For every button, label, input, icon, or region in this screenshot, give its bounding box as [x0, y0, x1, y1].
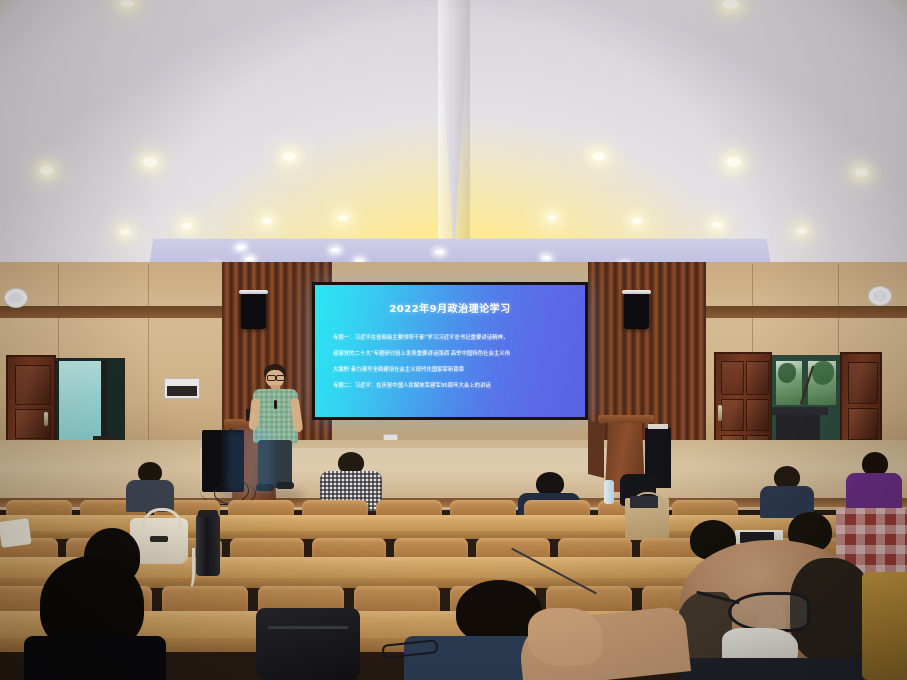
downlight	[855, 168, 868, 177]
soffit-downlight	[331, 248, 340, 252]
audience-member-foreground	[30, 556, 160, 680]
seat-back	[524, 500, 590, 516]
presenter-glasses	[267, 375, 276, 381]
black-bag-foreground	[256, 608, 360, 680]
black-water-bottle	[196, 514, 220, 576]
door-panel	[746, 361, 769, 395]
door-panel	[746, 399, 769, 431]
downlight	[262, 218, 272, 224]
slide-body: 专题一：习近平在省部级主要领导干部“学习习近平总书记重要讲话精神， 迎接党的二十…	[333, 330, 575, 394]
slide-line: 大旗帜 奋力谱写全面建设社会主义现代化国家崭新篇章	[333, 362, 575, 378]
wall-trim-left	[0, 306, 228, 318]
audience-member	[846, 452, 902, 510]
presenter-microphone	[274, 400, 277, 409]
seat-back	[228, 500, 294, 516]
water-bottle	[604, 480, 614, 504]
seat-back	[558, 538, 632, 558]
downlight	[547, 215, 557, 221]
led-screen[interactable]: 2022年9月政治理论学习 专题一：习近平在省部级主要领导干部“学习习近平总书记…	[315, 285, 585, 417]
torso	[126, 480, 174, 512]
av-equipment-panel[interactable]	[164, 378, 200, 399]
slide-line: 专题一：习近平在省部级主要领导干部“学习习近平总书记重要讲话精神，	[333, 330, 575, 346]
door-panel	[721, 399, 744, 431]
seat-back	[672, 500, 738, 516]
door-panel	[848, 362, 878, 404]
downlight	[182, 223, 192, 229]
audience-member	[126, 462, 174, 506]
ceiling-center-beam	[438, 0, 470, 255]
soffit-downlight	[245, 257, 254, 261]
ceiling-speaker-right	[868, 286, 892, 306]
slide-line: 迎接党的二十大”专题研讨班上发表重要讲话强调 高举中国特色社会主义伟	[333, 346, 575, 362]
audience-member	[760, 466, 814, 512]
ceiling	[0, 0, 907, 268]
led-screen-frame: 2022年9月政治理论学习 专题一：习近平在省部级主要领导干部“学习习近平总书记…	[312, 282, 588, 420]
downlight	[338, 215, 348, 221]
seat-back	[376, 500, 442, 516]
corridor-counter	[772, 407, 828, 415]
eyeglasses-frame	[728, 592, 810, 632]
soffit-downlight	[236, 245, 245, 249]
wall-trim-right	[700, 306, 907, 318]
downlight	[632, 218, 642, 224]
door-handle-left[interactable]	[44, 412, 48, 426]
downlight	[592, 152, 605, 161]
presenter-glasses	[276, 375, 285, 381]
bag-zipper	[268, 626, 348, 629]
soffit-downlight	[435, 250, 444, 254]
door-panel	[721, 361, 744, 395]
seat-back	[394, 538, 468, 558]
door-panel	[15, 365, 51, 405]
side-lectern-wing	[588, 420, 604, 478]
seat-back	[230, 538, 304, 558]
door-panel	[848, 408, 878, 440]
presenter-lectern-glow	[226, 430, 272, 494]
downlight	[283, 152, 296, 161]
torso	[846, 473, 902, 513]
downlight	[120, 0, 134, 7]
downlight	[143, 157, 157, 167]
paper-on-desk	[0, 518, 32, 548]
seat-back	[312, 538, 386, 558]
wall-seam	[148, 264, 149, 464]
seat-back	[302, 500, 368, 516]
lecture-hall-photo: 2022年9月政治理论学习 专题一：习近平在省部级主要领导干部“学习习近平总书记…	[0, 0, 907, 680]
presenter-shoe	[276, 482, 294, 489]
slide-line: 专题二：习近平：在庆祝中国人民解放军建军95周年大会上的讲话	[333, 378, 575, 394]
downlight	[727, 157, 741, 167]
side-lectern-top	[598, 415, 654, 423]
soffit-downlight	[542, 256, 551, 260]
seat-back	[450, 500, 516, 516]
slide-title: 2022年9月政治理论学习	[315, 300, 585, 315]
book-on-desk	[630, 496, 658, 508]
seat-back	[6, 500, 72, 516]
downlight	[120, 229, 130, 235]
torso	[24, 636, 166, 680]
loudspeaker-left	[241, 293, 266, 329]
hand-foreground	[528, 608, 602, 666]
downlight	[40, 166, 53, 175]
downlight	[712, 222, 722, 228]
downlight	[723, 0, 739, 9]
loudspeaker-right	[624, 293, 649, 329]
door-handle-right[interactable]	[718, 405, 722, 421]
cabinet-top-item	[648, 424, 668, 429]
tan-bag-right-edge	[862, 572, 907, 680]
downlight	[797, 228, 807, 234]
ceiling-speaker-left	[4, 288, 28, 308]
seat-back	[162, 586, 248, 612]
bottle-cap	[198, 510, 218, 517]
